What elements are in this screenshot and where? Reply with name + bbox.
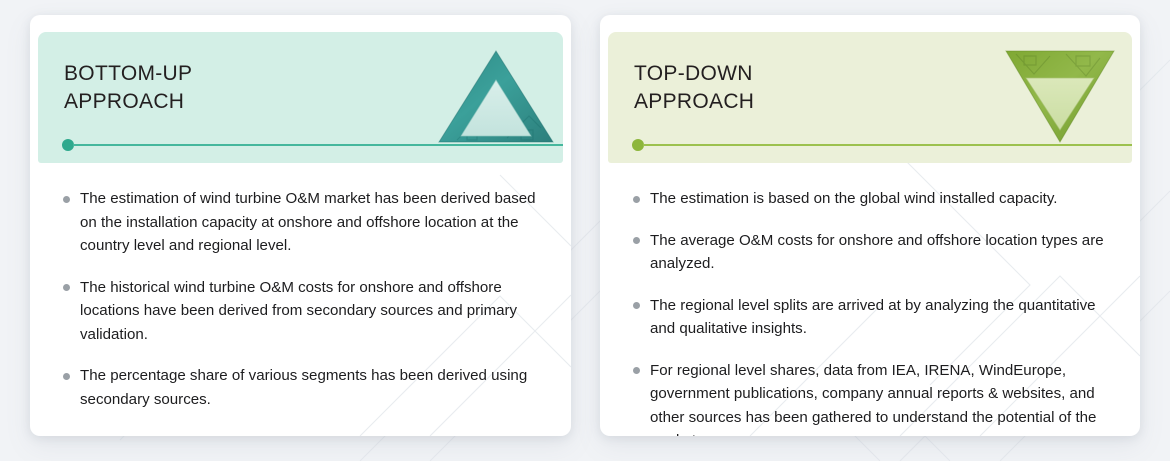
bullet-dot-icon (633, 196, 640, 203)
card-top-down-approach: TOP-DOWN APPROACH The estimation is base… (600, 15, 1140, 436)
bullet-dot-icon (63, 373, 70, 380)
bullet-dot-icon (63, 284, 70, 291)
list-item-text: The average O&M costs for onshore and of… (650, 229, 1124, 276)
accent-row-bottom-up (62, 138, 563, 152)
list-item-text: The regional level splits are arrived at… (650, 294, 1124, 341)
header-band-bottom-up: BOTTOM-UP APPROACH (38, 32, 563, 163)
bullet-dot-icon (633, 237, 640, 244)
list-item-text: For regional level shares, data from IEA… (650, 359, 1124, 437)
accent-row-top-down (632, 138, 1132, 152)
bullet-dot-icon (633, 302, 640, 309)
list-item: The regional level splits are arrived at… (600, 294, 1140, 341)
triangle-up-icon (437, 48, 555, 144)
accent-line (73, 144, 563, 146)
header-band-top-down: TOP-DOWN APPROACH (608, 32, 1132, 163)
accent-line (643, 144, 1132, 146)
card-title-bottom-up: BOTTOM-UP APPROACH (64, 60, 192, 116)
list-item: The estimation is based on the global wi… (600, 187, 1140, 211)
list-item-text: The historical wind turbine O&M costs fo… (80, 276, 555, 347)
list-item: The historical wind turbine O&M costs fo… (30, 276, 571, 347)
card-title-top-down: TOP-DOWN APPROACH (634, 60, 754, 116)
list-item-text: The estimation of wind turbine O&M marke… (80, 187, 555, 258)
list-item: The average O&M costs for onshore and of… (600, 229, 1140, 276)
list-item: The percentage share of various segments… (30, 364, 571, 411)
bullet-dot-icon (63, 196, 70, 203)
list-item: The estimation of wind turbine O&M marke… (30, 187, 571, 258)
bullet-dot-icon (633, 367, 640, 374)
bullet-list-top-down: The estimation is based on the global wi… (600, 187, 1140, 436)
approach-cards-board: BOTTOM-UP APPROACH The estimation of win… (0, 0, 1170, 461)
card-bottom-up-approach: BOTTOM-UP APPROACH The estimation of win… (30, 15, 571, 436)
triangle-down-icon (1004, 48, 1116, 144)
list-item-text: The estimation is based on the global wi… (650, 187, 1124, 211)
bullet-list-bottom-up: The estimation of wind turbine O&M marke… (30, 187, 571, 429)
list-item-text: The percentage share of various segments… (80, 364, 555, 411)
list-item: For regional level shares, data from IEA… (600, 359, 1140, 437)
